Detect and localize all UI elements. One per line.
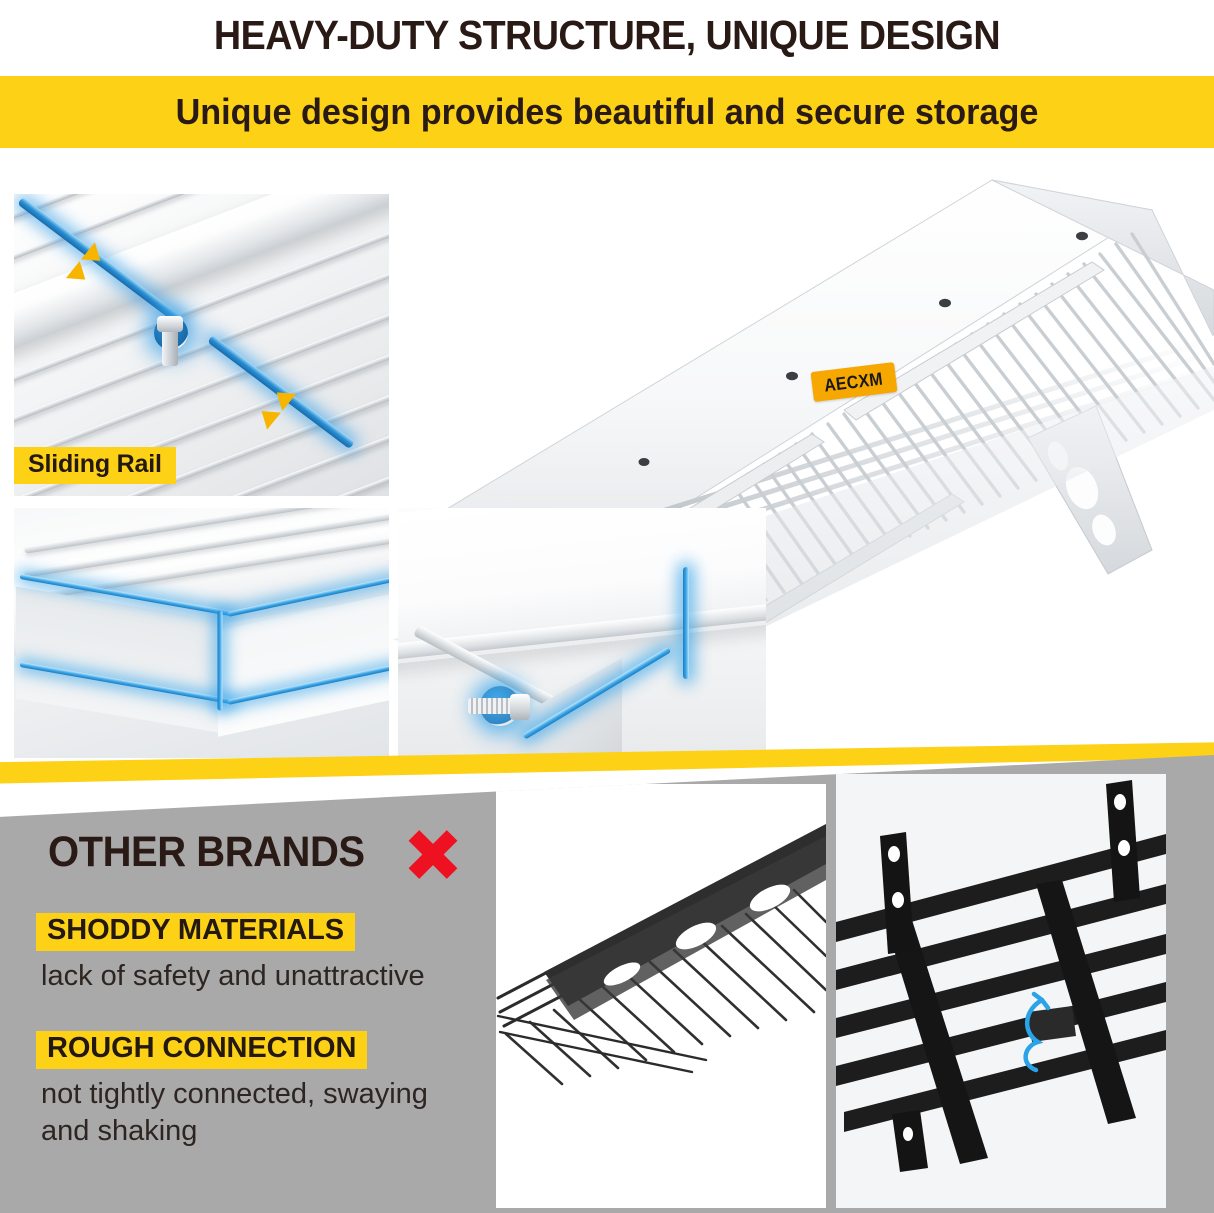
header: HEAVY-DUTY STRUCTURE, UNIQUE DESIGN Uniq… <box>0 0 1214 160</box>
panel-c-bolt-nut <box>510 694 530 720</box>
page-subtitle: Unique design provides beautiful and sec… <box>30 78 1183 146</box>
brand-badge-label: AECXM <box>823 368 884 396</box>
bullet-label: ROUGH CONNECTION <box>36 1031 367 1069</box>
other-brands-heading-row: OTHER BRANDS <box>48 823 462 881</box>
competitor-wire-rack-illustration <box>496 784 826 1208</box>
sliding-rail-caption: Sliding Rail <box>14 447 176 484</box>
bullet-description: not tightly connected, swaying and shaki… <box>36 1076 476 1149</box>
panel-c-bolt-thread <box>468 698 514 714</box>
panel-a-bolt-head <box>157 316 183 332</box>
sliding-rail-photo: Sliding Rail <box>14 194 389 496</box>
bullet-description: lack of safety and unattractive <box>36 958 476 995</box>
other-brands-heading: OTHER BRANDS <box>48 828 365 877</box>
x-mark-icon <box>402 823 462 881</box>
bullet-shoddy-materials: SHODDY MATERIALS lack of safety and unat… <box>36 913 476 995</box>
other-brands-section: OTHER BRANDS SHODDY MATERIALS lack of sa… <box>0 755 1214 1213</box>
page-title: HEAVY-DUTY STRUCTURE, UNIQUE DESIGN <box>49 12 1166 59</box>
panel-b-corner-glow <box>218 611 223 711</box>
glowing-corner-photo <box>14 508 389 758</box>
bullet-label: SHODDY MATERIALS <box>36 913 355 951</box>
top-photo-area: AECXM Sliding Rail <box>0 160 1214 772</box>
panel-c-vertical-glow <box>683 567 689 679</box>
bracket-bolt-photo <box>398 508 766 758</box>
competitor-slat-rack-illustration <box>836 774 1166 1208</box>
competitor-slat-rack-photo <box>836 774 1166 1208</box>
bullet-rough-connection: ROUGH CONNECTION not tightly connected, … <box>36 1031 476 1149</box>
competitor-wire-rack-photo <box>496 784 826 1208</box>
